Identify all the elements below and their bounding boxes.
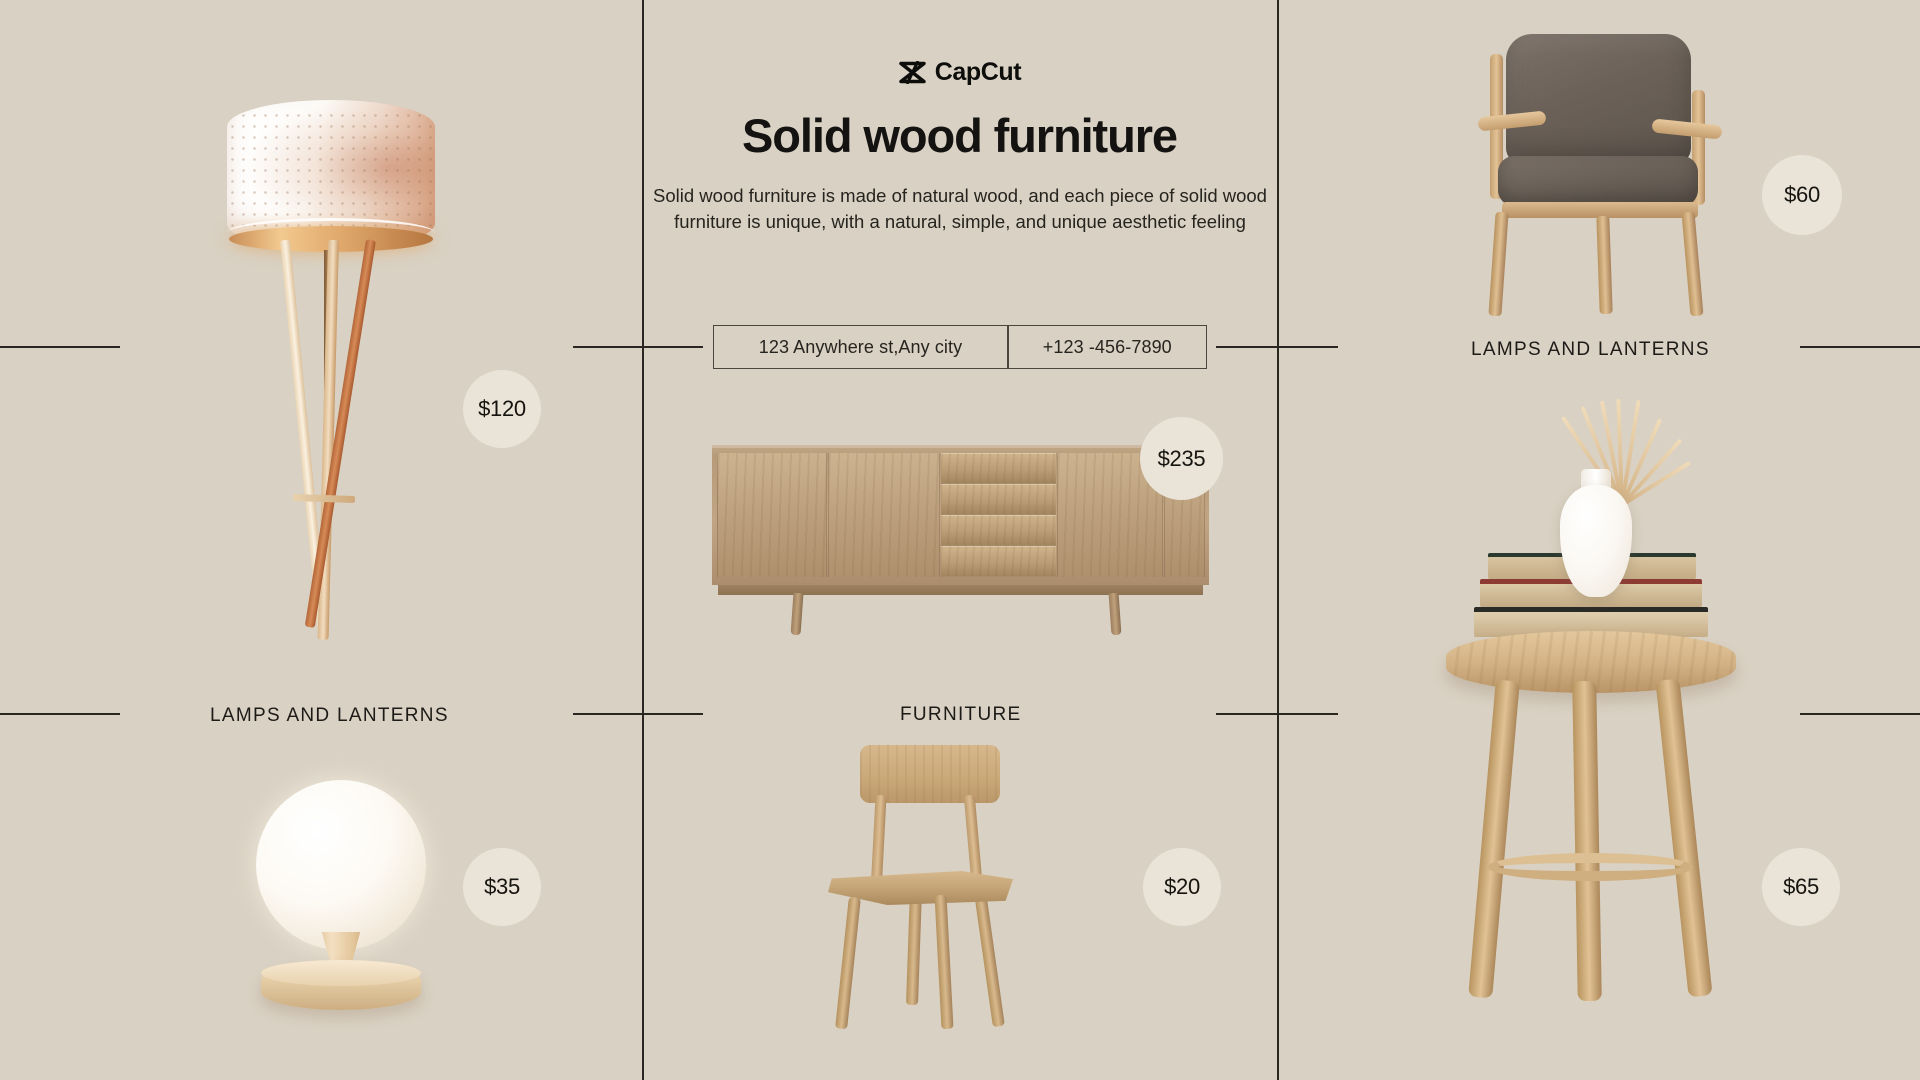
contact-bar: 123 Anywhere st,Any city +123 -456-7890: [713, 325, 1207, 369]
armchair-seat-cushion: [1498, 156, 1698, 206]
chair-leg: [906, 889, 922, 1005]
rule-upper-right: [1216, 346, 1338, 348]
product-image-armchair: [1470, 30, 1750, 320]
rule-lower-far-right: [1800, 713, 1920, 715]
ceramic-vase: [1560, 485, 1632, 597]
contact-address: 123 Anywhere st,Any city: [714, 326, 1007, 368]
stool-stretcher-ring: [1488, 853, 1693, 881]
column-divider-right: [1277, 0, 1279, 1080]
shade-perforation-pattern: [227, 110, 435, 234]
page-description: Solid wood furniture is made of natural …: [650, 183, 1270, 236]
price-badge-dining-chair[interactable]: $20: [1143, 848, 1221, 926]
globe-shade: [256, 780, 426, 950]
armchair-back-cushion: [1506, 34, 1691, 164]
stool-leg: [1468, 680, 1520, 999]
tripod-brace: [293, 494, 355, 503]
product-image-sideboard: [712, 445, 1209, 630]
rule-lower-far-left: [0, 713, 120, 715]
rule-upper-far-right: [1800, 346, 1920, 348]
product-image-dining-chair: [820, 745, 1035, 1030]
rule-upper-left: [573, 346, 703, 348]
price-badge-armchair[interactable]: $60: [1762, 155, 1842, 235]
category-label-right: LAMPS AND LANTERNS: [1471, 339, 1710, 361]
tripod-leg: [305, 239, 376, 628]
sideboard-drawer: [941, 453, 1056, 484]
sideboard-drawer: [941, 484, 1056, 515]
capcut-logo-icon: [899, 61, 926, 84]
poster-canvas: CapCut Solid wood furniture Solid wood f…: [0, 0, 1920, 1080]
category-label-left: LAMPS AND LANTERNS: [210, 705, 449, 727]
sideboard-drawer: [941, 515, 1056, 546]
sideboard-plinth: [718, 585, 1203, 595]
category-label-center: FURNITURE: [900, 704, 1021, 726]
armchair-leg: [1488, 212, 1508, 317]
product-image-globe-table-lamp: [233, 780, 458, 1005]
price-badge-stool[interactable]: $65: [1762, 848, 1840, 926]
stool-leg: [1655, 679, 1712, 998]
chair-leg: [973, 885, 1005, 1027]
product-image-stool: [1440, 375, 1740, 1015]
armchair-leg: [1681, 212, 1703, 317]
price-badge-globe-table-lamp[interactable]: $35: [463, 848, 541, 926]
rule-lower-left: [573, 713, 703, 715]
rule-upper-far-left: [0, 346, 120, 348]
chair-leg: [835, 897, 861, 1030]
sideboard-leg: [1109, 593, 1122, 636]
chair-leg: [935, 895, 954, 1029]
sideboard-drawer-stack: [941, 453, 1056, 577]
rule-lower-right: [1216, 713, 1338, 715]
product-image-tripod-floor-lamp: [220, 100, 450, 660]
sideboard-leg: [791, 593, 804, 636]
sideboard-door: [717, 453, 827, 577]
sideboard-drawer: [941, 546, 1056, 577]
contact-phone: +123 -456-7890: [1009, 326, 1206, 368]
sideboard-door: [828, 453, 940, 577]
lamp-base-top: [261, 960, 421, 986]
armchair-leg: [1596, 216, 1612, 314]
stool-leg: [1572, 681, 1602, 1001]
price-badge-sideboard[interactable]: $235: [1140, 417, 1223, 500]
price-badge-tripod-floor-lamp[interactable]: $120: [463, 370, 541, 448]
brand-name: CapCut: [935, 58, 1021, 87]
page-title: Solid wood furniture: [642, 108, 1277, 163]
dried-grass-decor: [1550, 375, 1690, 505]
